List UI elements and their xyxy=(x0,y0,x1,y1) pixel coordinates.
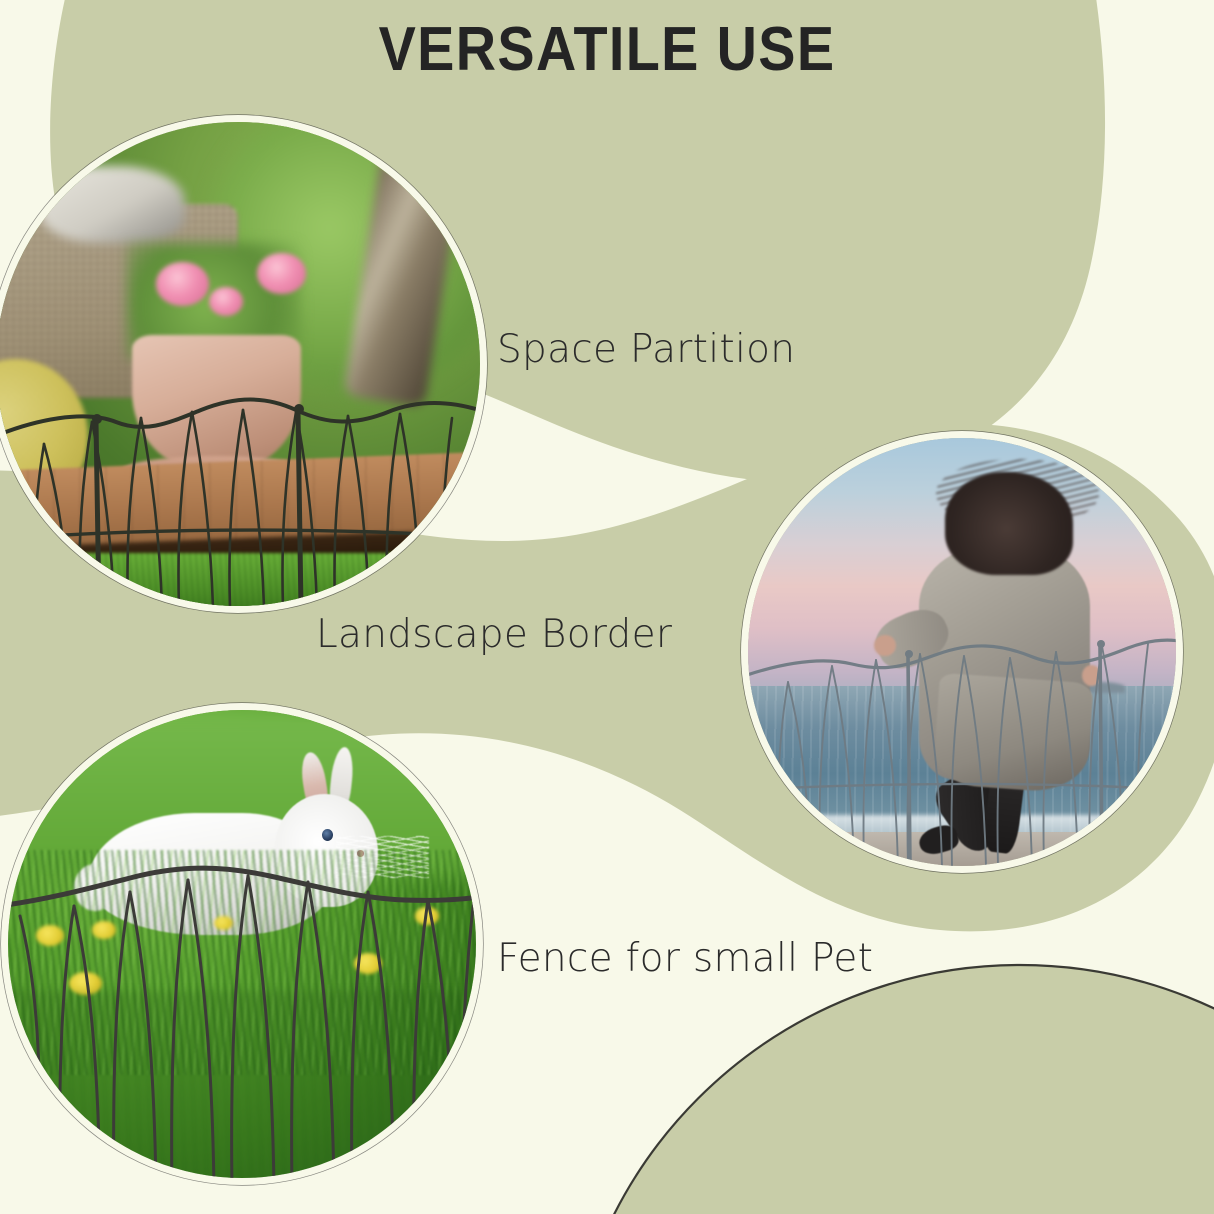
infographic-canvas: VERSATILE USE xyxy=(0,0,1214,1214)
feature-photo-landscape-border xyxy=(748,438,1176,866)
fence-overlay-rabbit xyxy=(8,710,476,1178)
feature-photo-fence-small-pet xyxy=(8,710,476,1178)
feature-label-fence-small-pet: Fence for small Pet xyxy=(497,936,873,981)
page-title: VERSATILE USE xyxy=(61,14,1154,85)
feature-photo-space-partition xyxy=(0,122,480,606)
feature-label-space-partition: Space Partition xyxy=(497,327,795,372)
fence-overlay-patio xyxy=(0,122,480,606)
green-circle-bottom-right xyxy=(565,965,1214,1214)
feature-label-landscape-border: Landscape Border xyxy=(316,612,672,657)
fence-overlay-beach xyxy=(748,438,1176,866)
